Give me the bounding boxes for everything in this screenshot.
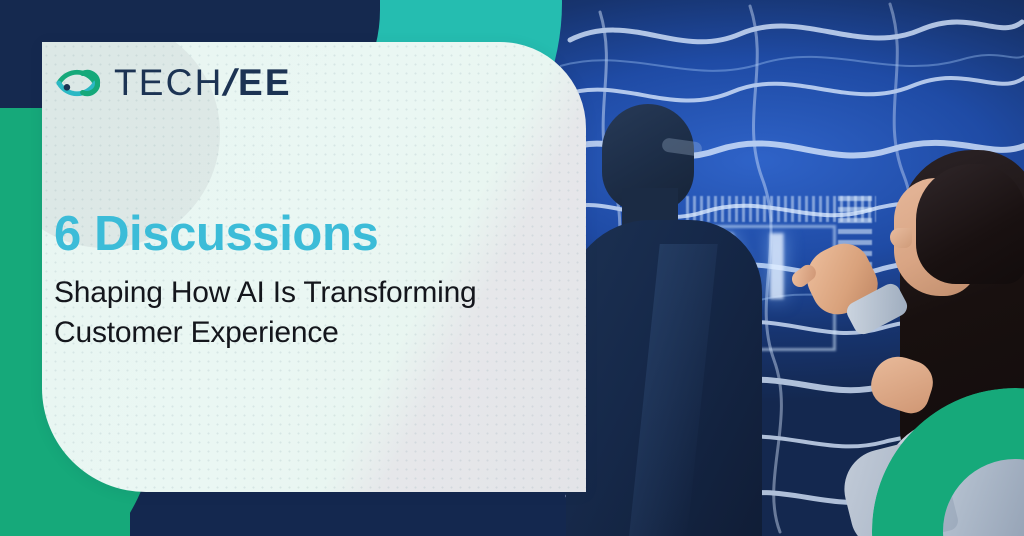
blog-banner: AI [0, 0, 1024, 536]
page-subtitle: Shaping How AI Is Transforming Customer … [54, 273, 494, 353]
headline-block: 6 Discussions Shaping How AI Is Transfor… [54, 210, 494, 353]
logo-word-see: EE [238, 62, 292, 103]
techsee-eye-logo-icon [54, 60, 100, 106]
logo-word-tech: TECH [114, 62, 224, 103]
woman-nose [890, 228, 912, 248]
brand-logo-wordmark: TECH/EE [114, 62, 292, 104]
woman-hair-front [916, 164, 1024, 284]
man-in-suit [566, 104, 762, 536]
page-title: 6 Discussions [54, 210, 494, 259]
brand-logo[interactable]: TECH/EE [54, 60, 292, 106]
